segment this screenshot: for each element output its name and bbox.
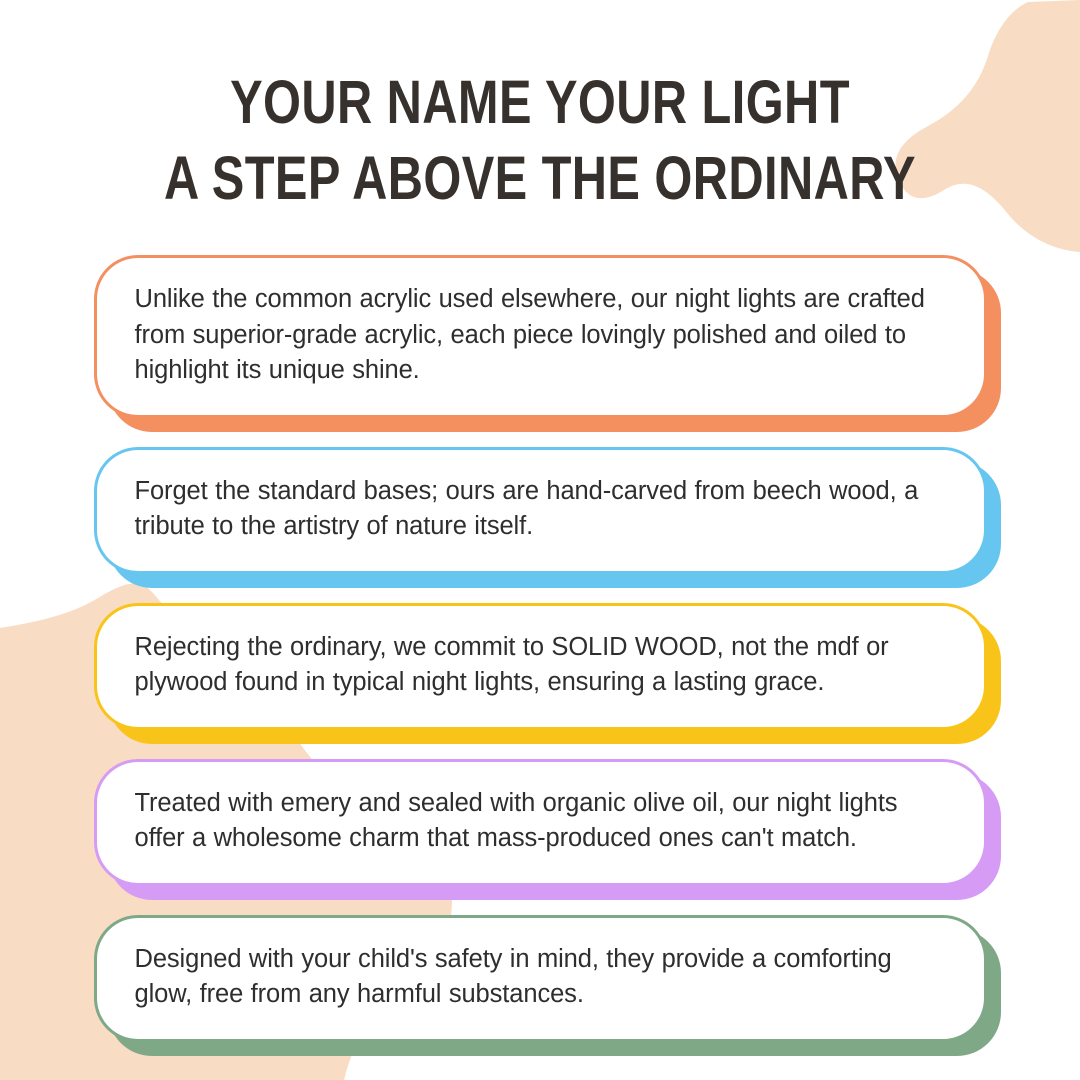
feature-card-list: Unlike the common acrylic used elsewhere… [0, 255, 1080, 1042]
poster-canvas: YOUR NAME YOUR LIGHT A STEP ABOVE THE OR… [0, 0, 1080, 1080]
card-text-olive-oil-finish: Treated with emery and sealed with organ… [135, 786, 950, 857]
card-body-beech-wood-base: Forget the standard bases; ours are hand… [94, 447, 987, 574]
card-text-acrylic: Unlike the common acrylic used elsewhere… [135, 282, 950, 389]
card-body-solid-wood: Rejecting the ordinary, we commit to SOL… [94, 603, 987, 730]
feature-card-acrylic: Unlike the common acrylic used elsewhere… [94, 255, 987, 418]
card-body-olive-oil-finish: Treated with emery and sealed with organ… [94, 759, 987, 886]
page-title: YOUR NAME YOUR LIGHT A STEP ABOVE THE OR… [0, 66, 1080, 214]
card-text-beech-wood-base: Forget the standard bases; ours are hand… [135, 474, 950, 545]
feature-card-child-safety: Designed with your child's safety in min… [94, 915, 987, 1042]
feature-card-solid-wood: Rejecting the ordinary, we commit to SOL… [94, 603, 987, 730]
card-body-acrylic: Unlike the common acrylic used elsewhere… [94, 255, 987, 418]
feature-card-beech-wood-base: Forget the standard bases; ours are hand… [94, 447, 987, 574]
headline-line-1: YOUR NAME YOUR LIGHT [108, 66, 972, 138]
card-body-child-safety: Designed with your child's safety in min… [94, 915, 987, 1042]
card-text-child-safety: Designed with your child's safety in min… [135, 942, 950, 1013]
card-text-solid-wood: Rejecting the ordinary, we commit to SOL… [135, 630, 950, 701]
feature-card-olive-oil-finish: Treated with emery and sealed with organ… [94, 759, 987, 886]
headline-line-2: A STEP ABOVE THE ORDINARY [108, 142, 972, 214]
